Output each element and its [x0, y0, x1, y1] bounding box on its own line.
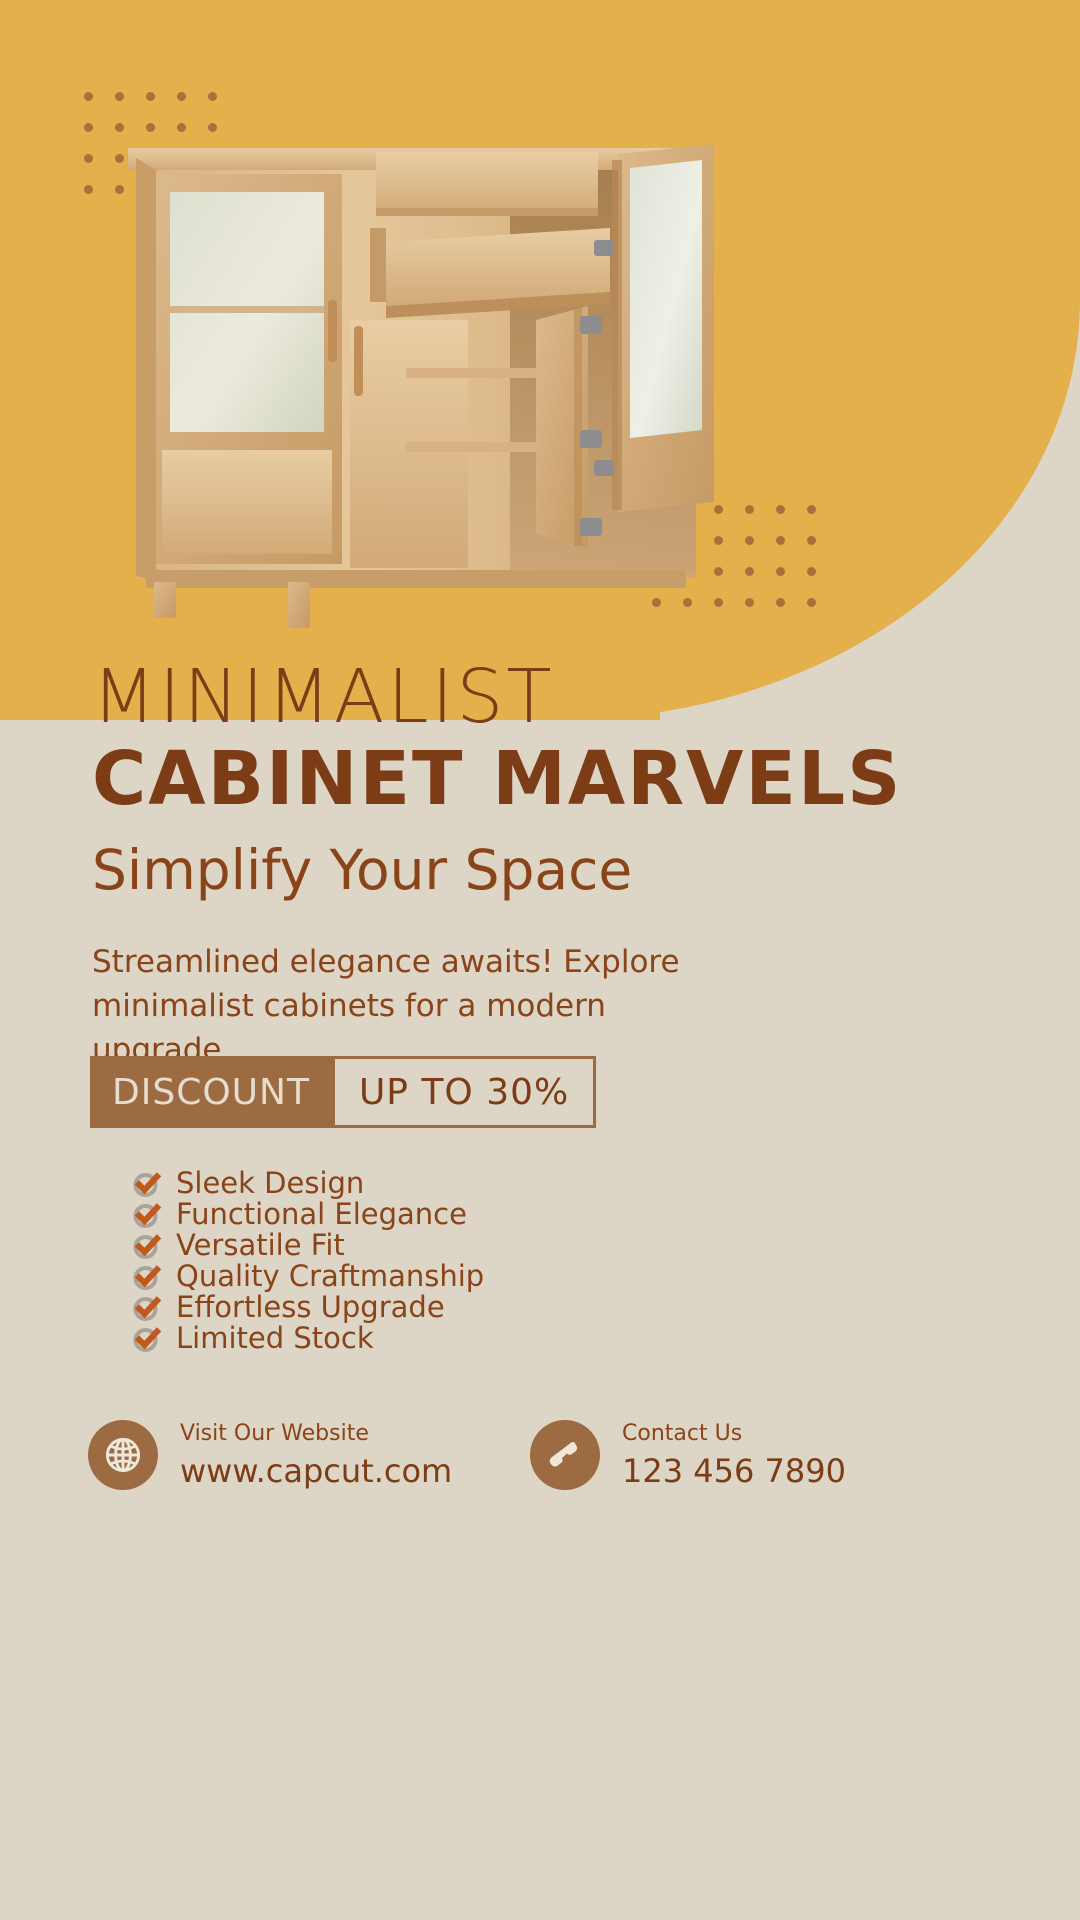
- feature-list: Sleek Design Functional Elegance Versati…: [132, 1172, 484, 1358]
- website-caption: Visit Our Website: [180, 1421, 452, 1446]
- decorative-dot: [84, 185, 93, 194]
- feature-label: Effortless Upgrade: [176, 1293, 445, 1322]
- phone-number[interactable]: 123 456 7890: [622, 1452, 846, 1490]
- feature-label: Versatile Fit: [176, 1231, 345, 1260]
- list-item: Sleek Design: [132, 1172, 484, 1195]
- decorative-dot: [84, 154, 93, 163]
- discount-badge: DISCOUNT UP TO 30%: [90, 1056, 596, 1128]
- decorative-dot: [84, 123, 93, 132]
- poster-root: MINIMALIST CABINET MARVELS Simplify Your…: [0, 0, 1080, 1920]
- decorative-dot: [115, 92, 124, 101]
- decorative-dot: [807, 567, 816, 576]
- list-item: Limited Stock: [132, 1327, 484, 1350]
- cabinet-product-image: [118, 130, 780, 650]
- decorative-dot: [208, 92, 217, 101]
- feature-label: Limited Stock: [176, 1324, 374, 1353]
- website-url[interactable]: www.capcut.com: [180, 1452, 452, 1490]
- phone-contact-block[interactable]: Contact Us 123 456 7890: [530, 1420, 846, 1490]
- footer-section: Visit Our Website www.capcut.com Contact…: [0, 1410, 1080, 1550]
- list-item: Effortless Upgrade: [132, 1296, 484, 1319]
- feature-label: Functional Elegance: [176, 1200, 467, 1229]
- cabinet-illustration: [118, 130, 780, 650]
- website-contact-block[interactable]: Visit Our Website www.capcut.com: [88, 1420, 452, 1490]
- decorative-dot: [146, 92, 155, 101]
- discount-label: DISCOUNT: [90, 1056, 332, 1128]
- phone-texts: Contact Us 123 456 7890: [622, 1421, 846, 1490]
- phone-icon: [530, 1420, 600, 1490]
- page-title-line2: CABINET MARVELS: [92, 742, 902, 816]
- phone-caption: Contact Us: [622, 1421, 846, 1446]
- feature-label: Quality Craftmanship: [176, 1262, 484, 1291]
- list-item: Versatile Fit: [132, 1234, 484, 1257]
- decorative-dot: [807, 536, 816, 545]
- check-circle-icon: [132, 1231, 162, 1261]
- list-item: Functional Elegance: [132, 1203, 484, 1226]
- decorative-dot: [807, 505, 816, 514]
- feature-label: Sleek Design: [176, 1169, 364, 1198]
- page-title-line1: MINIMALIST: [92, 660, 555, 734]
- check-circle-icon: [132, 1169, 162, 1199]
- check-circle-icon: [132, 1200, 162, 1230]
- check-circle-icon: [132, 1293, 162, 1323]
- subheading: Simplify Your Space: [92, 838, 632, 902]
- list-item: Quality Craftmanship: [132, 1265, 484, 1288]
- decorative-dot: [84, 92, 93, 101]
- body-paragraph: Streamlined elegance awaits! Explore min…: [92, 940, 712, 1072]
- website-texts: Visit Our Website www.capcut.com: [180, 1421, 452, 1490]
- check-circle-icon: [132, 1324, 162, 1354]
- hero-section: [0, 0, 1080, 720]
- decorative-dot: [807, 598, 816, 607]
- decorative-dot: [177, 92, 186, 101]
- check-circle-icon: [132, 1262, 162, 1292]
- discount-value: UP TO 30%: [332, 1056, 596, 1128]
- globe-icon: [88, 1420, 158, 1490]
